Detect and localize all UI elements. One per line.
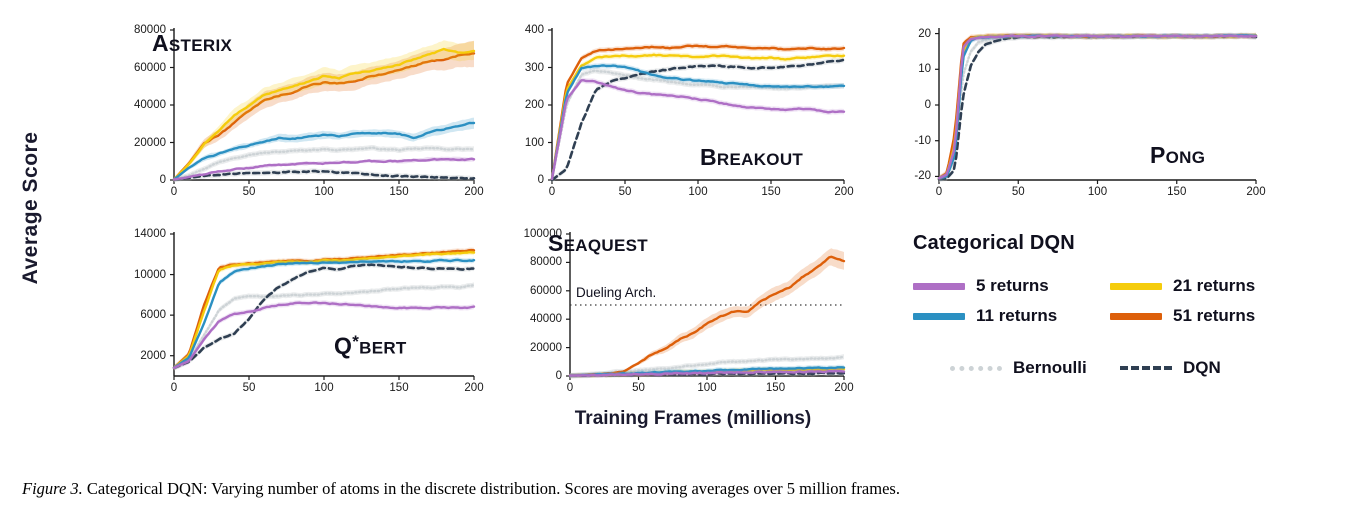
series-line-dqn — [174, 265, 474, 368]
legend-item-dqn[interactable]: DQN — [1120, 358, 1221, 378]
y-tick-qbert-14000: 14000 — [118, 228, 166, 240]
x-tick-breakout-100: 100 — [688, 186, 707, 198]
legend-title: Categorical DQN — [913, 232, 1075, 255]
y-tick-breakout-200: 200 — [518, 99, 544, 111]
series-line-11-returns — [174, 260, 474, 368]
x-tick-qbert-50: 50 — [243, 382, 256, 394]
x-tick-breakout-200: 200 — [834, 186, 853, 198]
figure-number: Figure 3. — [22, 479, 83, 498]
legend-swatch-51-returns — [1110, 313, 1162, 320]
series-line-dqn — [939, 36, 1256, 180]
y-axis-label: Average Score — [19, 93, 43, 323]
x-tick-asterix-50: 50 — [243, 186, 256, 198]
legend-swatch-dqn — [1120, 366, 1172, 370]
panel-qbert: 200060001000014000050100150200Q*BERT — [118, 228, 478, 400]
figure-root: Average Score 02000040000600008000005010… — [0, 0, 1350, 523]
series-line-5-returns — [939, 35, 1256, 178]
y-tick-breakout-0: 0 — [518, 174, 544, 186]
y-tick-pong-20: 20 — [905, 28, 931, 40]
confidence-band-11-returns — [939, 33, 1256, 181]
series-line-21-returns — [939, 35, 1256, 178]
y-tick-breakout-300: 300 — [518, 62, 544, 74]
y-tick-asterix-40000: 40000 — [118, 99, 166, 111]
y-tick-qbert-6000: 6000 — [118, 309, 166, 321]
x-tick-qbert-200: 200 — [464, 382, 483, 394]
y-tick-seaquest-20000: 20000 — [518, 342, 562, 354]
panel-title-pong: PONG — [1150, 142, 1205, 169]
plot-area-qbert — [118, 228, 478, 400]
y-tick-seaquest-40000: 40000 — [518, 313, 562, 325]
x-tick-asterix-200: 200 — [464, 186, 483, 198]
x-tick-qbert-150: 150 — [389, 382, 408, 394]
y-tick-seaquest-60000: 60000 — [518, 285, 562, 297]
confidence-band-21-returns — [939, 33, 1256, 181]
x-tick-seaquest-0: 0 — [567, 382, 573, 394]
legend-item-21-returns[interactable]: 21 returns — [1110, 276, 1255, 296]
figure-caption-text: Categorical DQN: Varying number of atoms… — [83, 479, 900, 498]
x-tick-asterix-100: 100 — [314, 186, 333, 198]
confidence-band-dqn — [939, 33, 1256, 182]
x-tick-pong-0: 0 — [936, 186, 942, 198]
x-tick-pong-200: 200 — [1246, 186, 1265, 198]
confidence-band-bernoulli — [174, 282, 474, 370]
series-line-bernoulli — [939, 36, 1256, 180]
confidence-band-5-returns — [939, 33, 1256, 181]
y-tick-seaquest-80000: 80000 — [518, 256, 562, 268]
y-tick-asterix-0: 0 — [118, 174, 166, 186]
confidence-band-51-returns — [939, 33, 1256, 181]
confidence-band-bernoulli — [939, 33, 1256, 182]
legend-swatch-11-returns — [913, 313, 965, 320]
panel-pong: -20-1001020050100150200PONG — [905, 24, 1260, 204]
x-tick-qbert-0: 0 — [171, 382, 177, 394]
y-tick-pong--20: -20 — [905, 170, 931, 182]
plot-area-pong — [905, 24, 1260, 204]
y-tick-breakout-400: 400 — [518, 24, 544, 36]
legend-swatch-21-returns — [1110, 283, 1162, 290]
plot-area-breakout — [518, 24, 848, 204]
x-tick-asterix-150: 150 — [389, 186, 408, 198]
panel-seaquest: 020000400006000080000100000050100150200D… — [518, 228, 848, 400]
legend-label-11-returns: 11 returns — [976, 306, 1057, 326]
legend-swatch-5-returns — [913, 283, 965, 290]
y-tick-asterix-20000: 20000 — [118, 137, 166, 149]
y-tick-qbert-2000: 2000 — [118, 350, 166, 362]
x-tick-breakout-150: 150 — [761, 186, 780, 198]
panel-title-seaquest: SEAQUEST — [548, 230, 648, 257]
panel-title-asterix: ASTERIX — [152, 30, 232, 57]
y-tick-pong-10: 10 — [905, 63, 931, 75]
y-tick-pong-0: 0 — [905, 99, 931, 111]
legend-label-21-returns: 21 returns — [1173, 276, 1255, 296]
legend-label-dqn: DQN — [1183, 358, 1221, 378]
series-line-bernoulli — [174, 285, 474, 368]
legend: Categorical DQN 5 returns 21 returns 11 … — [905, 232, 1305, 392]
x-tick-seaquest-100: 100 — [697, 382, 716, 394]
panel-breakout: 0100200300400050100150200BREAKOUT — [518, 24, 848, 204]
y-tick-pong--10: -10 — [905, 135, 931, 147]
panel-title-breakout: BREAKOUT — [700, 144, 803, 171]
x-tick-pong-100: 100 — [1088, 186, 1107, 198]
legend-swatch-bernoulli — [950, 366, 1002, 371]
legend-label-51-returns: 51 returns — [1173, 306, 1255, 326]
series-line-11-returns — [939, 35, 1256, 178]
panel-title-qbert: Q*BERT — [334, 332, 407, 359]
confidence-band-dqn — [174, 262, 474, 370]
series-line-51-returns — [939, 35, 1256, 178]
legend-item-11-returns[interactable]: 11 returns — [913, 306, 1057, 326]
x-tick-pong-150: 150 — [1167, 186, 1186, 198]
y-tick-seaquest-0: 0 — [518, 370, 562, 382]
x-tick-seaquest-50: 50 — [632, 382, 645, 394]
confidence-band-51-returns — [570, 248, 844, 375]
x-tick-pong-50: 50 — [1012, 186, 1025, 198]
x-tick-breakout-0: 0 — [549, 186, 555, 198]
y-tick-asterix-60000: 60000 — [118, 62, 166, 74]
x-tick-seaquest-150: 150 — [766, 382, 785, 394]
y-tick-qbert-10000: 10000 — [118, 269, 166, 281]
x-tick-breakout-50: 50 — [619, 186, 632, 198]
legend-label-5-returns: 5 returns — [976, 276, 1049, 296]
legend-item-bernoulli[interactable]: Bernoulli — [950, 358, 1087, 378]
legend-label-bernoulli: Bernoulli — [1013, 358, 1087, 378]
confidence-band-11-returns — [174, 257, 474, 370]
x-tick-qbert-100: 100 — [314, 382, 333, 394]
dueling-arch-annotation: Dueling Arch. — [576, 285, 656, 300]
panel-asterix: 020000400006000080000050100150200ASTERIX — [118, 24, 478, 204]
legend-item-5-returns[interactable]: 5 returns — [913, 276, 1049, 296]
x-tick-asterix-0: 0 — [171, 186, 177, 198]
legend-item-51-returns[interactable]: 51 returns — [1110, 306, 1255, 326]
x-axis-label: Training Frames (millions) — [528, 408, 858, 430]
y-tick-breakout-100: 100 — [518, 137, 544, 149]
figure-caption: Figure 3. Categorical DQN: Varying numbe… — [22, 478, 1322, 499]
x-tick-seaquest-200: 200 — [834, 382, 853, 394]
